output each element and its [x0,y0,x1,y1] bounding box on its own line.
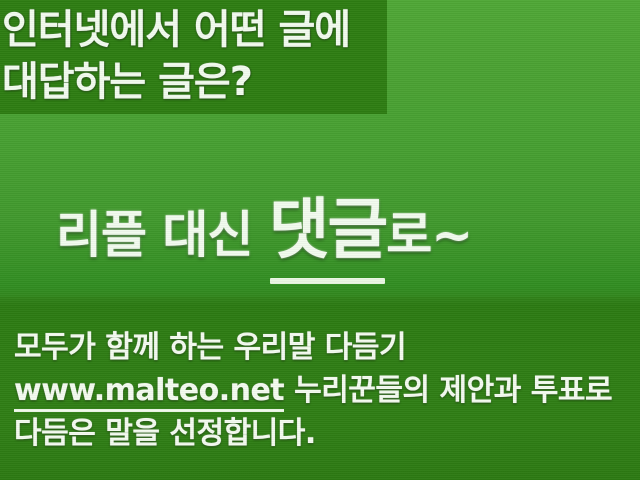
malteo-promo-banner: 인터넷에서 어떤 글에 대답하는 글은? 리플 대신 댓글로~ 모두가 함께 하… [0,0,640,480]
headline-line-2: 대답하는 글은? [2,56,252,108]
slogan-emphasis: 댓글 [269,191,386,268]
slogan: 리플 대신 댓글로~ [56,176,472,272]
footer-line-1: 모두가 함께 하는 우리말 다듬기 [14,326,612,369]
slogan-suffix: 로~ [386,206,472,264]
footer-line-2-rest: 누리꾼들의 제안과 투표로 [284,373,612,408]
headline-line-1: 인터넷에서 어떤 글에 [2,4,350,56]
malteo-url-text: www.malteo.net [14,373,284,408]
slogan-prefix: 리플 대신 [56,206,269,264]
malteo-url-underline [14,409,284,412]
footer-line-2: www.malteo.net 누리꾼들의 제안과 투표로 [14,369,612,412]
background-band-seam [0,286,640,306]
slogan-emphasis-underline [270,278,385,284]
footer-line-3: 다듬은 말을 선정합니다. [14,412,612,455]
malteo-url-link[interactable]: www.malteo.net [14,369,284,412]
slogan-emphasis-text: 댓글 [269,191,386,268]
footer-text-block: 모두가 함께 하는 우리말 다듬기 www.malteo.net 누리꾼들의 제… [14,326,612,455]
